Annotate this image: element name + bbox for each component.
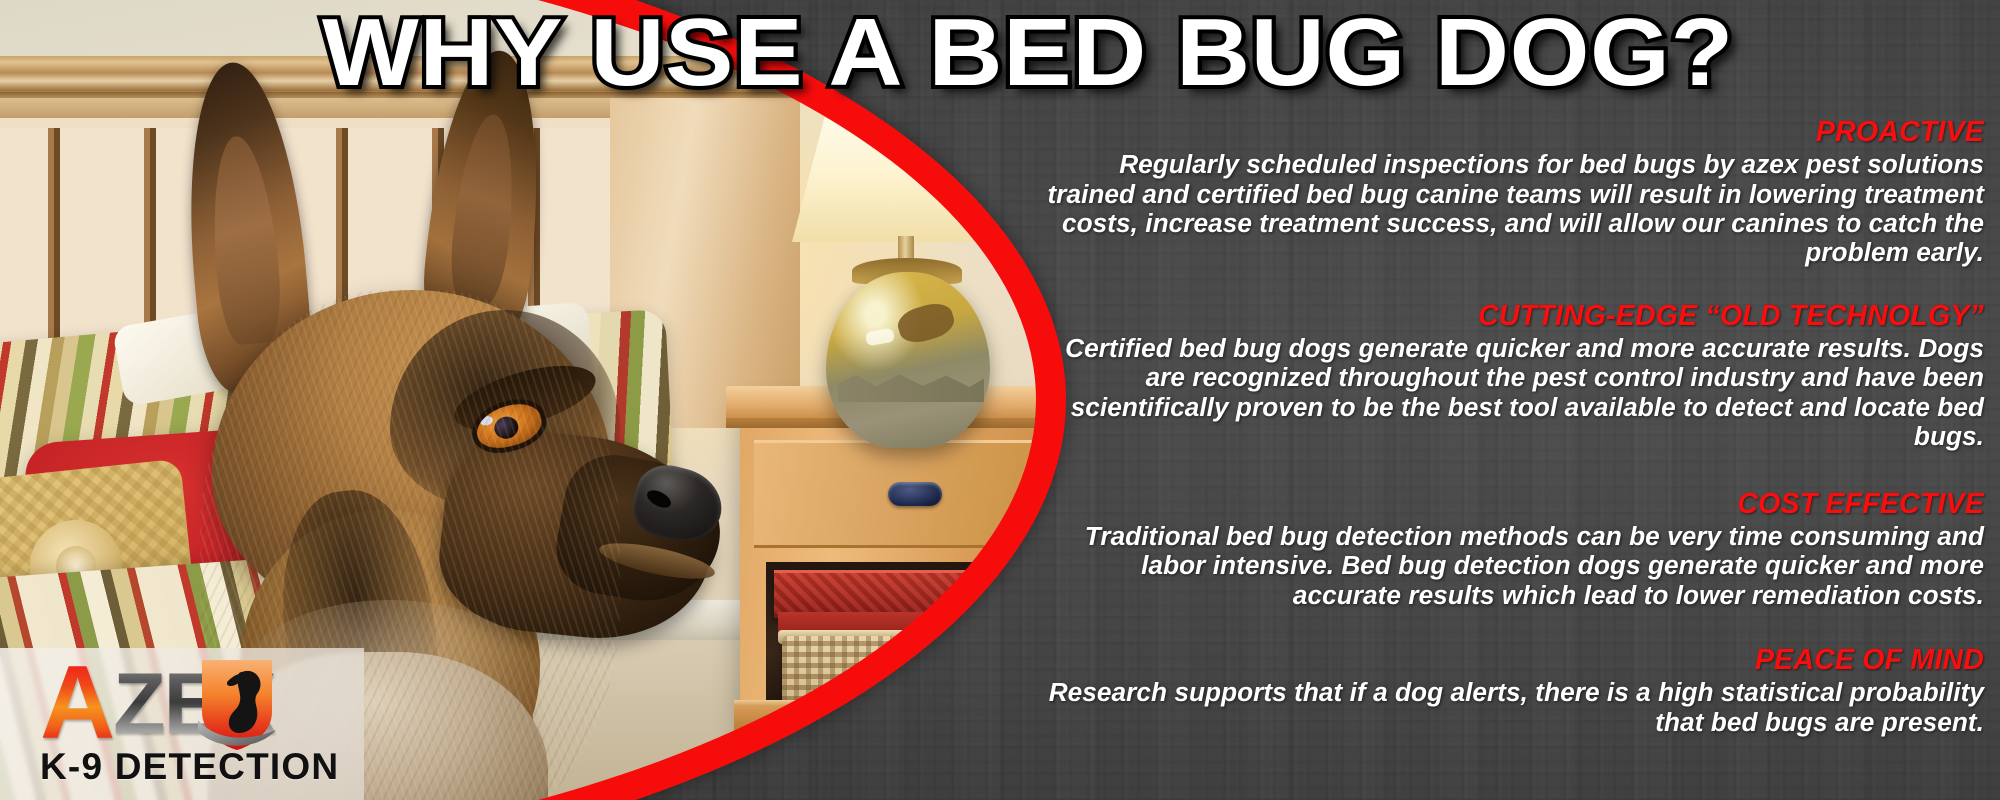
section-heading: COST EFFECTIVE [1046, 490, 1984, 519]
section-cost-effective: COST EFFECTIVE Traditional bed bug detec… [1046, 490, 1984, 610]
section-cutting-edge: CUTTING-EDGE “OLD TECHNOLGY” Certified b… [1046, 302, 1984, 452]
section-body: Certified bed bug dogs generate quicker … [1046, 334, 1984, 452]
azex-letter-a: A [40, 660, 113, 747]
section-heading: CUTTING-EDGE “OLD TECHNOLGY” [1046, 302, 1984, 331]
bed-bug-dog-banner: WHY USE A BED BUG DOG? PROACTIVE Regular… [0, 0, 2000, 800]
section-body: Regularly scheduled inspections for bed … [1046, 150, 1984, 268]
section-body: Traditional bed bug detection methods ca… [1046, 522, 1984, 610]
shield-dog-icon [198, 656, 276, 752]
azex-logo[interactable]: A ZEX [0, 648, 364, 800]
section-proactive: PROACTIVE Regularly scheduled inspection… [1046, 118, 1984, 268]
section-heading: PEACE OF MIND [1046, 646, 1984, 675]
section-peace-of-mind: PEACE OF MIND Research supports that if … [1046, 646, 1984, 737]
page-title: WHY USE A BED BUG DOG? [0, 6, 2000, 100]
logo-tagline: K-9 DETECTION [40, 748, 339, 785]
section-heading: PROACTIVE [1046, 118, 1984, 147]
section-body: Research supports that if a dog alerts, … [1046, 678, 1984, 737]
benefits-column: PROACTIVE Regularly scheduled inspection… [1046, 118, 1984, 755]
